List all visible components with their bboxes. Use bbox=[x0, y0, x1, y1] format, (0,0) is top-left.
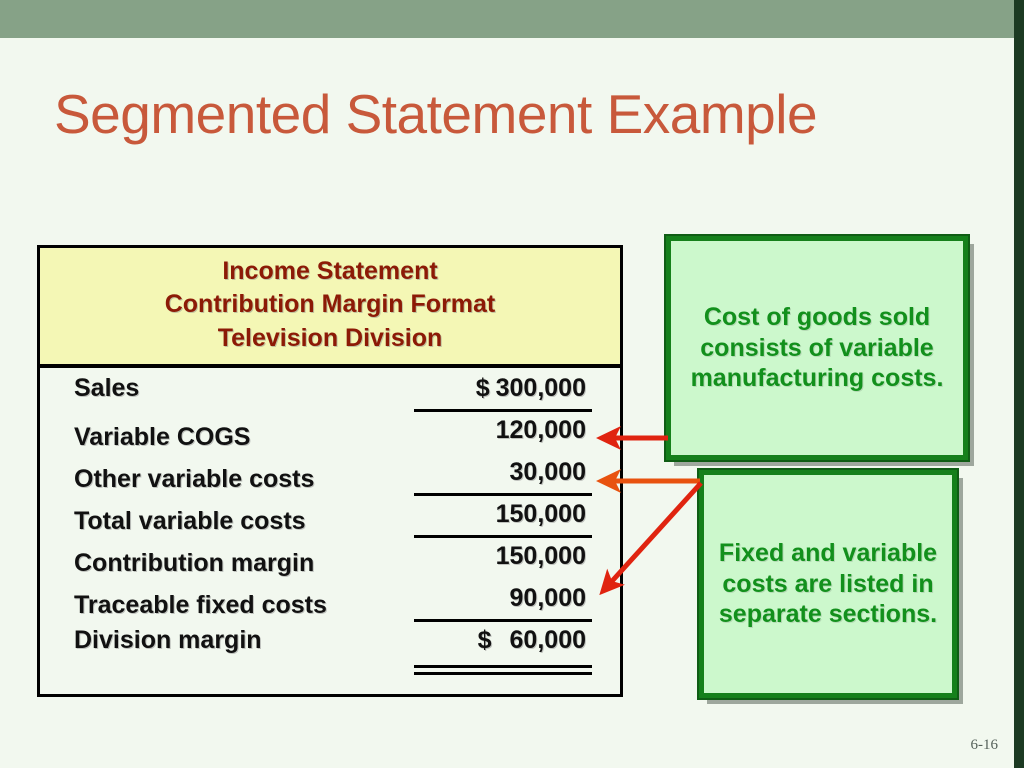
statement-header: Income Statement Contribution Margin For… bbox=[40, 248, 620, 368]
table-row: Division margin $ 60,000 bbox=[40, 626, 620, 668]
statement-body: Sales $ 300,000 Variable COGS 120,000 Ot… bbox=[40, 368, 620, 668]
row-amount: 90,000 bbox=[414, 584, 592, 613]
callout-cost-of-goods-note: Cost of goods sold consists of variable … bbox=[666, 236, 968, 460]
page-title: Segmented Statement Example bbox=[54, 82, 817, 146]
amount-value: 150,000 bbox=[496, 542, 586, 571]
table-row: Traceable fixed costs 90,000 bbox=[40, 584, 620, 626]
currency-symbol: $ bbox=[476, 374, 490, 403]
table-row: Variable COGS 120,000 bbox=[40, 416, 620, 458]
amount-value: 150,000 bbox=[496, 500, 586, 529]
row-amount: 120,000 bbox=[414, 416, 592, 445]
row-label: Division margin bbox=[74, 626, 262, 655]
table-row: Contribution margin 150,000 bbox=[40, 542, 620, 584]
right-edge-strip bbox=[1014, 0, 1024, 768]
currency-symbol: $ bbox=[478, 626, 492, 655]
amount-value: 30,000 bbox=[510, 458, 586, 487]
row-label: Sales bbox=[74, 374, 139, 403]
table-row: Total variable costs 150,000 bbox=[40, 500, 620, 542]
row-amount: $ 300,000 bbox=[414, 374, 592, 403]
amount-value: 120,000 bbox=[496, 416, 586, 445]
income-statement-panel: Income Statement Contribution Margin For… bbox=[37, 245, 623, 697]
row-label: Contribution margin bbox=[74, 549, 314, 578]
table-row: Sales $ 300,000 bbox=[40, 374, 620, 416]
statement-header-line-1: Income Statement bbox=[40, 255, 620, 288]
amount-value: 90,000 bbox=[510, 584, 586, 613]
statement-header-line-2: Contribution Margin Format bbox=[40, 288, 620, 321]
row-amount: 150,000 bbox=[414, 500, 592, 529]
row-amount: 30,000 bbox=[414, 458, 592, 487]
row-label: Total variable costs bbox=[74, 507, 306, 536]
row-label: Traceable fixed costs bbox=[74, 591, 327, 620]
slide-canvas: Segmented Statement Example Income State… bbox=[0, 0, 1024, 768]
row-label: Other variable costs bbox=[74, 465, 314, 494]
amount-value: 300,000 bbox=[496, 374, 586, 403]
row-amount: 150,000 bbox=[414, 542, 592, 571]
top-banner-bar bbox=[0, 0, 1014, 38]
statement-header-line-3: Television Division bbox=[40, 322, 620, 355]
row-label: Variable COGS bbox=[74, 423, 250, 452]
callout-fixed-variable-note: Fixed and variable costs are listed in s… bbox=[699, 470, 957, 698]
page-number: 6-16 bbox=[971, 737, 999, 754]
amount-value: 60,000 bbox=[510, 626, 586, 655]
table-row: Other variable costs 30,000 bbox=[40, 458, 620, 500]
row-amount: $ 60,000 bbox=[414, 626, 592, 655]
